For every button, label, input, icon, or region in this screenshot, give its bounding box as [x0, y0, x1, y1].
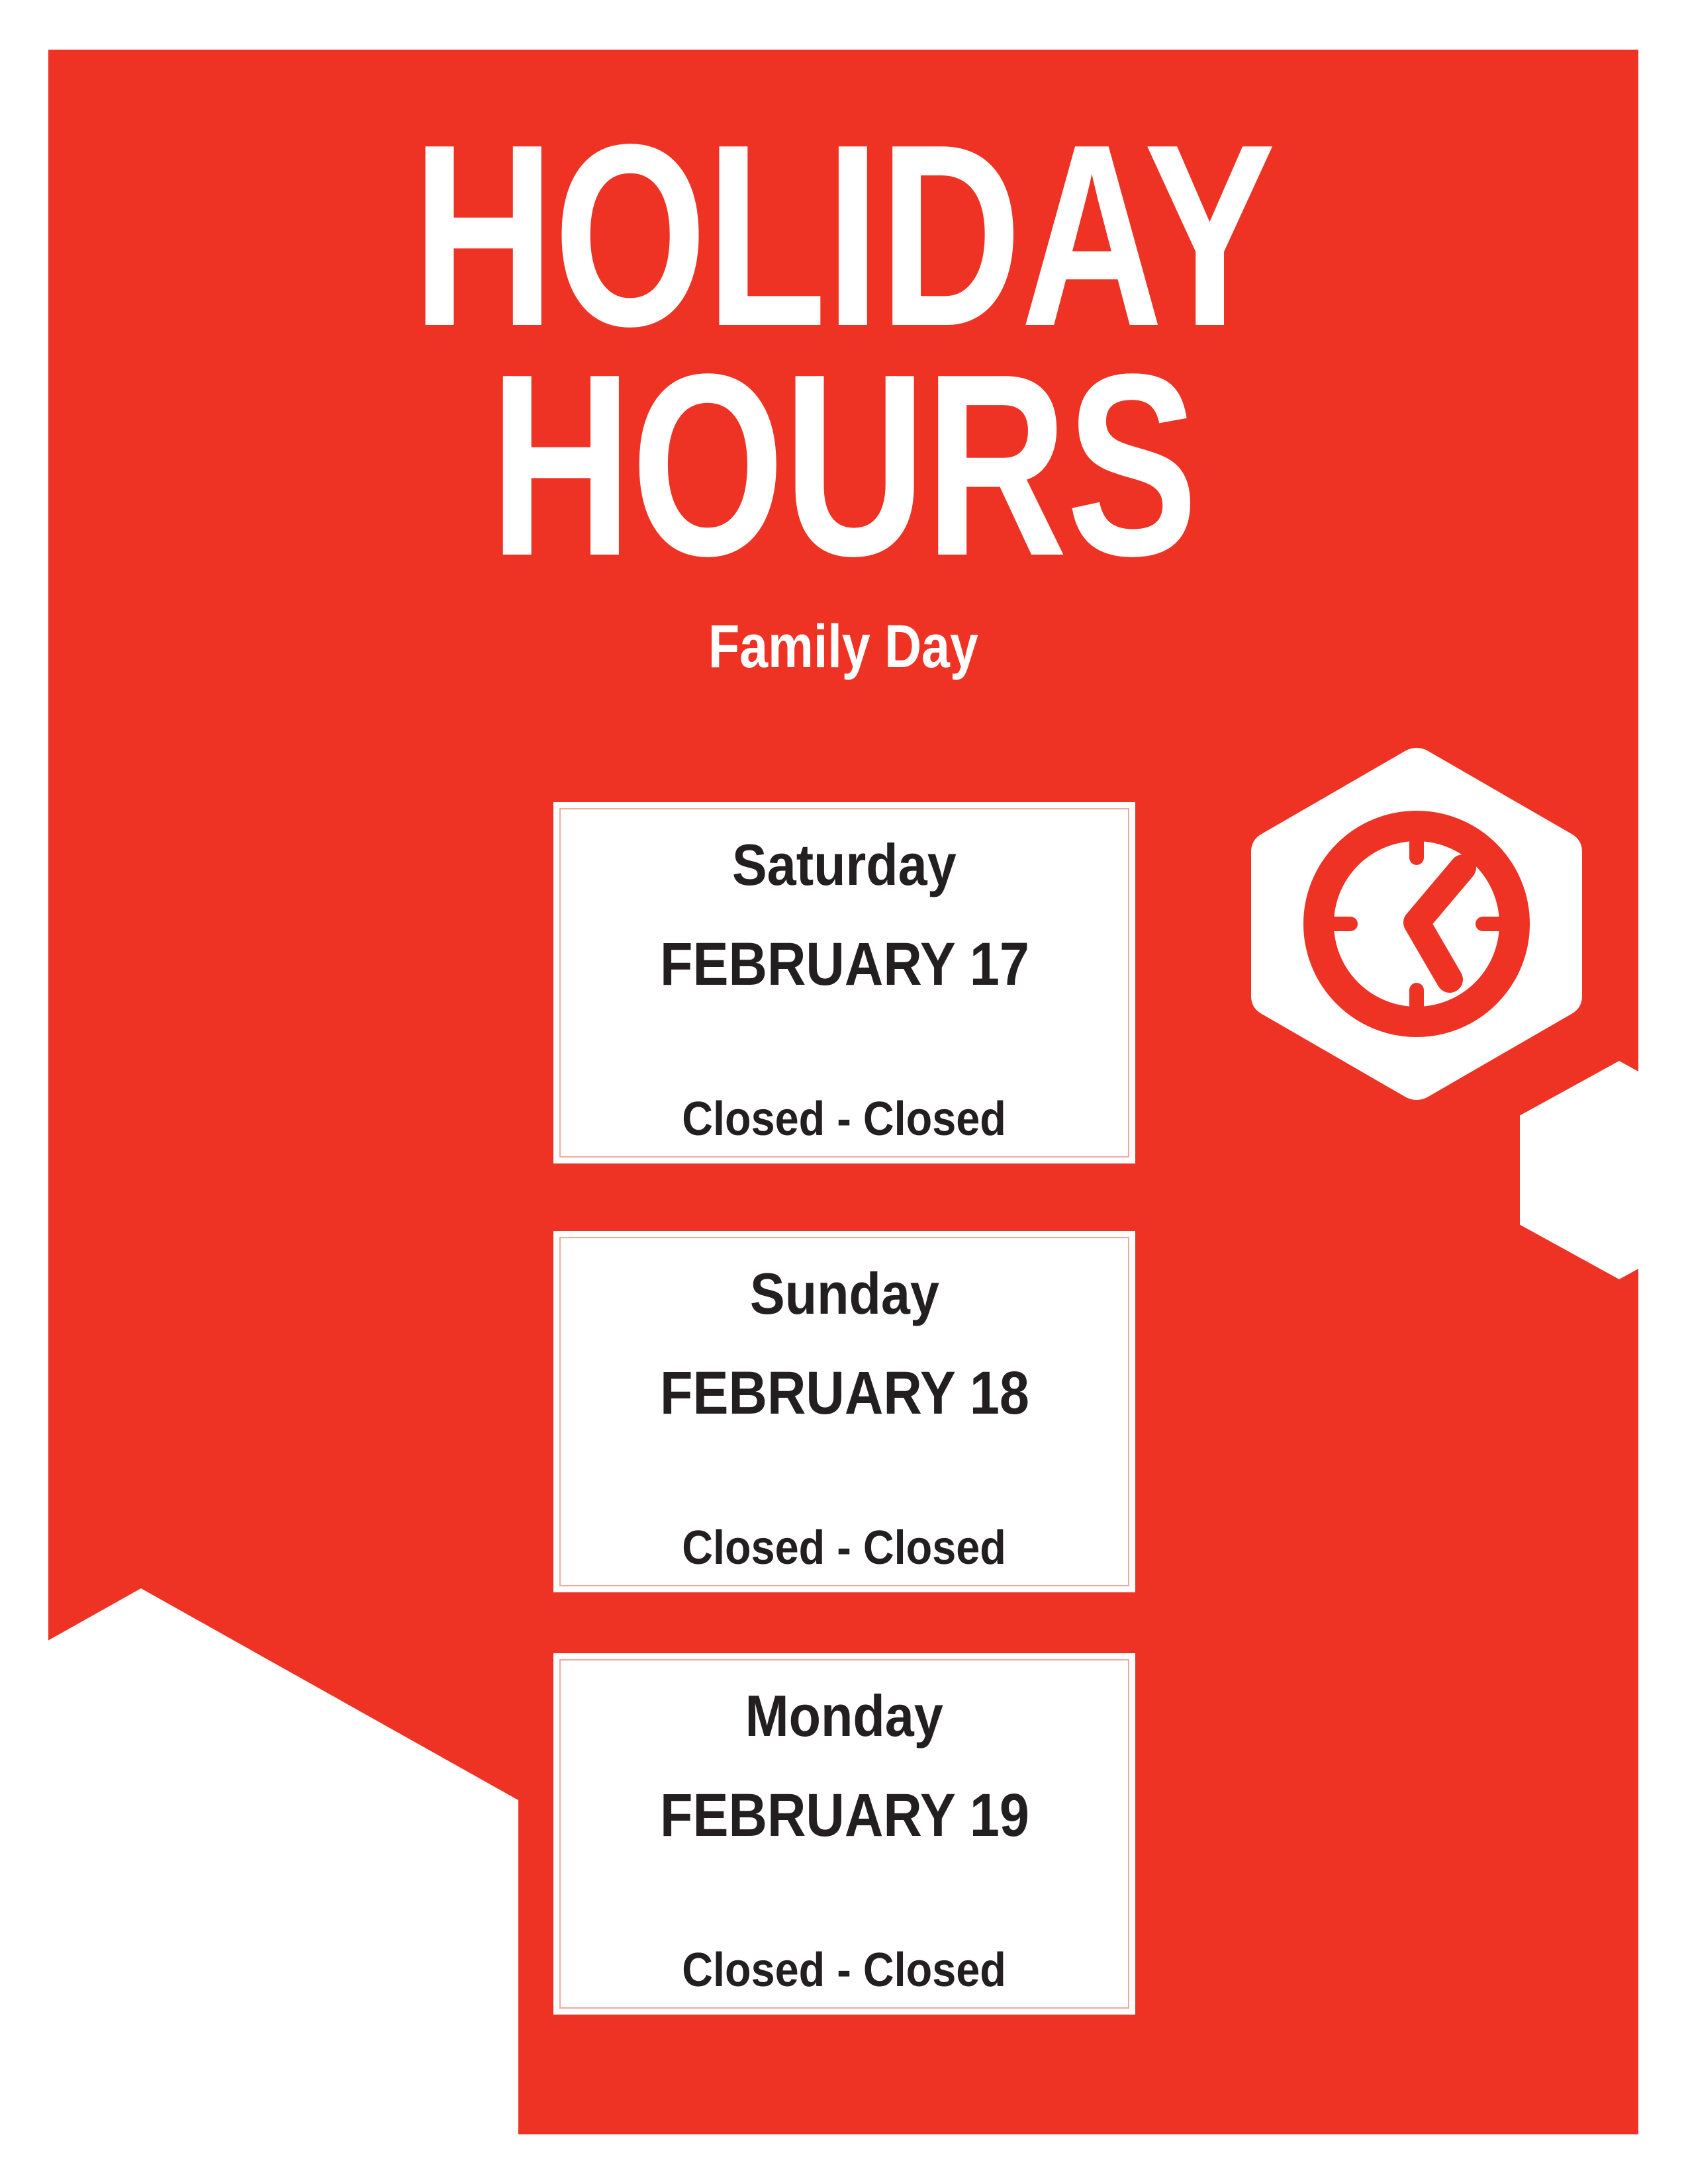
card-weekday: Saturday: [732, 836, 957, 894]
schedule-card: Monday FEBRUARY 19 Closed - Closed: [553, 1653, 1135, 2015]
clock-icon: [1250, 747, 1583, 1101]
schedule-card: Saturday FEBRUARY 17 Closed - Closed: [553, 802, 1135, 1163]
holiday-hours-poster: HOLIDAY HOURS Family Day Saturday FEBRUA…: [0, 0, 1688, 2184]
card-hours: Closed - Closed: [682, 1095, 1007, 1143]
card-weekday: Sunday: [749, 1265, 939, 1323]
schedule-card: Sunday FEBRUARY 18 Closed - Closed: [553, 1231, 1135, 1592]
card-date: FEBRUARY 17: [660, 934, 1029, 995]
clock-tick-6: [1409, 983, 1424, 1013]
card-date: FEBRUARY 18: [660, 1363, 1029, 1424]
schedule-card-inner: Sunday FEBRUARY 18 Closed - Closed: [559, 1237, 1129, 1586]
card-hours: Closed - Closed: [682, 1946, 1007, 1994]
clock-tick-12: [1409, 835, 1424, 865]
schedule-card-inner: Monday FEBRUARY 19 Closed - Closed: [559, 1659, 1129, 2009]
clock-tick-9: [1327, 917, 1358, 931]
card-date: FEBRUARY 19: [660, 1785, 1029, 1846]
schedule-card-inner: Saturday FEBRUARY 17 Closed - Closed: [559, 808, 1129, 1158]
card-weekday: Monday: [745, 1687, 943, 1745]
clock-tick-3: [1476, 917, 1506, 931]
large-hexagon-decoration: [48, 1588, 518, 2134]
card-hours: Closed - Closed: [682, 1524, 1007, 1572]
